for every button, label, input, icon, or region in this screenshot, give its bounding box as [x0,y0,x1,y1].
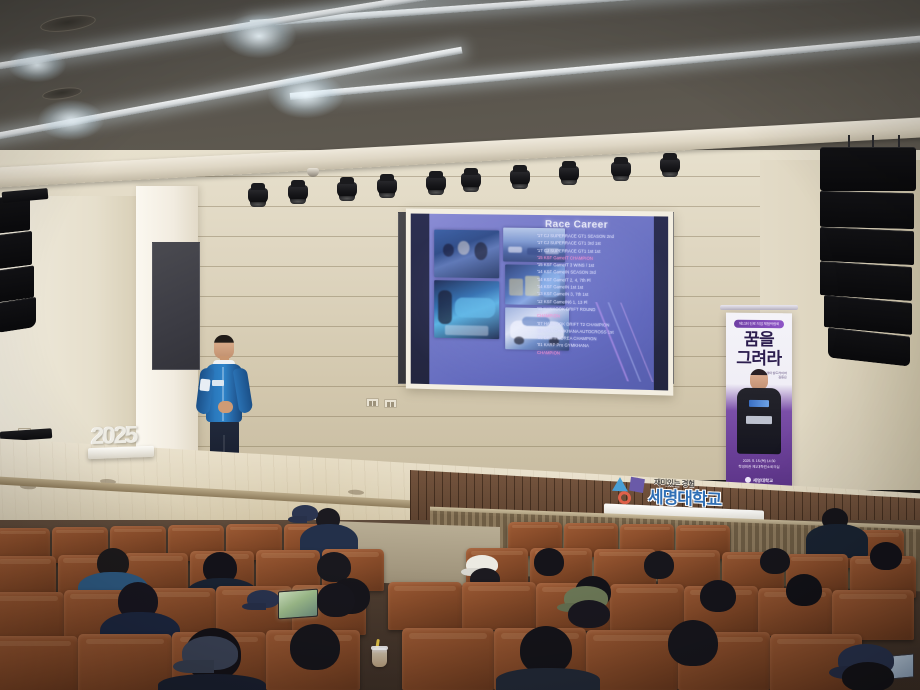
seat[interactable] [462,582,536,630]
acoustic-panel [152,242,200,370]
event-banner: 제13회 진로·직업 체험박람회 꿈을 그려라 레이싱드라이버 김동은 2025… [726,313,792,492]
audience-head [534,548,564,576]
portrait-racing-suit [737,388,781,454]
seat[interactable] [0,636,78,690]
wall-outlet[interactable] [384,399,397,408]
circle-icon [618,491,631,505]
audience-head [786,574,822,606]
audience-shoulders [806,524,868,558]
navy-cap [247,590,279,608]
banner-top-bar [720,305,798,310]
seat[interactable] [832,590,914,640]
presenter-chest-patch [212,380,224,386]
audience-head [760,548,790,574]
banner-portrait [737,369,781,453]
seat[interactable] [610,584,684,632]
ceiling-vent [41,85,82,101]
audience-shoulders [158,674,266,690]
square-icon [629,477,645,493]
banner-location: 학생회관 제1대학원소회의실 [726,464,792,470]
banner-footer: 2025. 5. 15.(목) 14:30 학생회관 제1대학원소회의실 [726,459,792,471]
stage-spotlight [559,166,579,182]
suit-sponsor-badge [749,400,769,407]
banner-headline: 꿈을 그려라 [726,331,792,368]
wall-outlet[interactable] [366,398,379,407]
blue-car-photo [434,280,499,339]
seat[interactable] [388,582,462,630]
drink-cup[interactable] [372,648,387,667]
stage-spotlight [461,173,481,189]
stage-spotlight [660,158,680,174]
projection-screen: Race Career [406,209,673,396]
navy-cap [182,636,238,670]
seat[interactable] [0,592,64,642]
slide-career-list: '17 CJ SUPERRACE GT1 SEASON 2nd '17 CJ S… [537,232,662,359]
navy-cap [292,505,318,521]
audience-head [644,551,674,579]
year-prop-base [88,446,154,459]
presentation-slide: Race Career [411,214,668,391]
audience-head [842,662,894,690]
speaker-rigging [848,135,900,147]
portrait-head [750,369,768,390]
suit-chest-logo [746,416,772,424]
audience-head [568,600,610,628]
stage-spotlight [377,179,397,195]
presenter-hands [218,401,233,413]
year-prop-2025: 2025 [88,417,154,459]
stage-spotlight [337,182,357,198]
auditorium-scene: Race Career [0,0,920,690]
audience-head [700,580,736,612]
stage-spotlight [426,176,446,192]
banner-headline-line2: 그려라 [726,350,792,368]
audience-head [668,620,718,666]
banner-eyebrow: 제13회 진로·직업 체험박람회 [734,320,784,329]
seat[interactable] [78,634,172,690]
audience-head [317,583,355,617]
banner-headline-line1: 꿈을 [744,330,774,349]
stage-spotlight [248,188,268,204]
stage-spotlight [510,170,530,186]
audience-head [290,624,340,670]
line-array-speaker-right [820,145,918,395]
stage-spotlight [611,162,631,178]
ceiling-light-strip [250,0,920,27]
audience-shoulders [496,668,600,690]
triangle-icon [612,477,628,492]
presenter-sleeve-patch [199,379,210,392]
audience-head [870,542,902,570]
tablet-screen[interactable] [278,589,318,620]
audience-head [520,626,572,674]
line-array-speaker-left [0,196,52,356]
seat[interactable] [402,628,494,690]
slide-list-item: CHAMPION [537,349,662,359]
stage-spotlight [288,185,308,201]
ceiling-vent [39,12,97,35]
interview-photo [434,230,499,279]
slide-left-band [411,214,430,385]
